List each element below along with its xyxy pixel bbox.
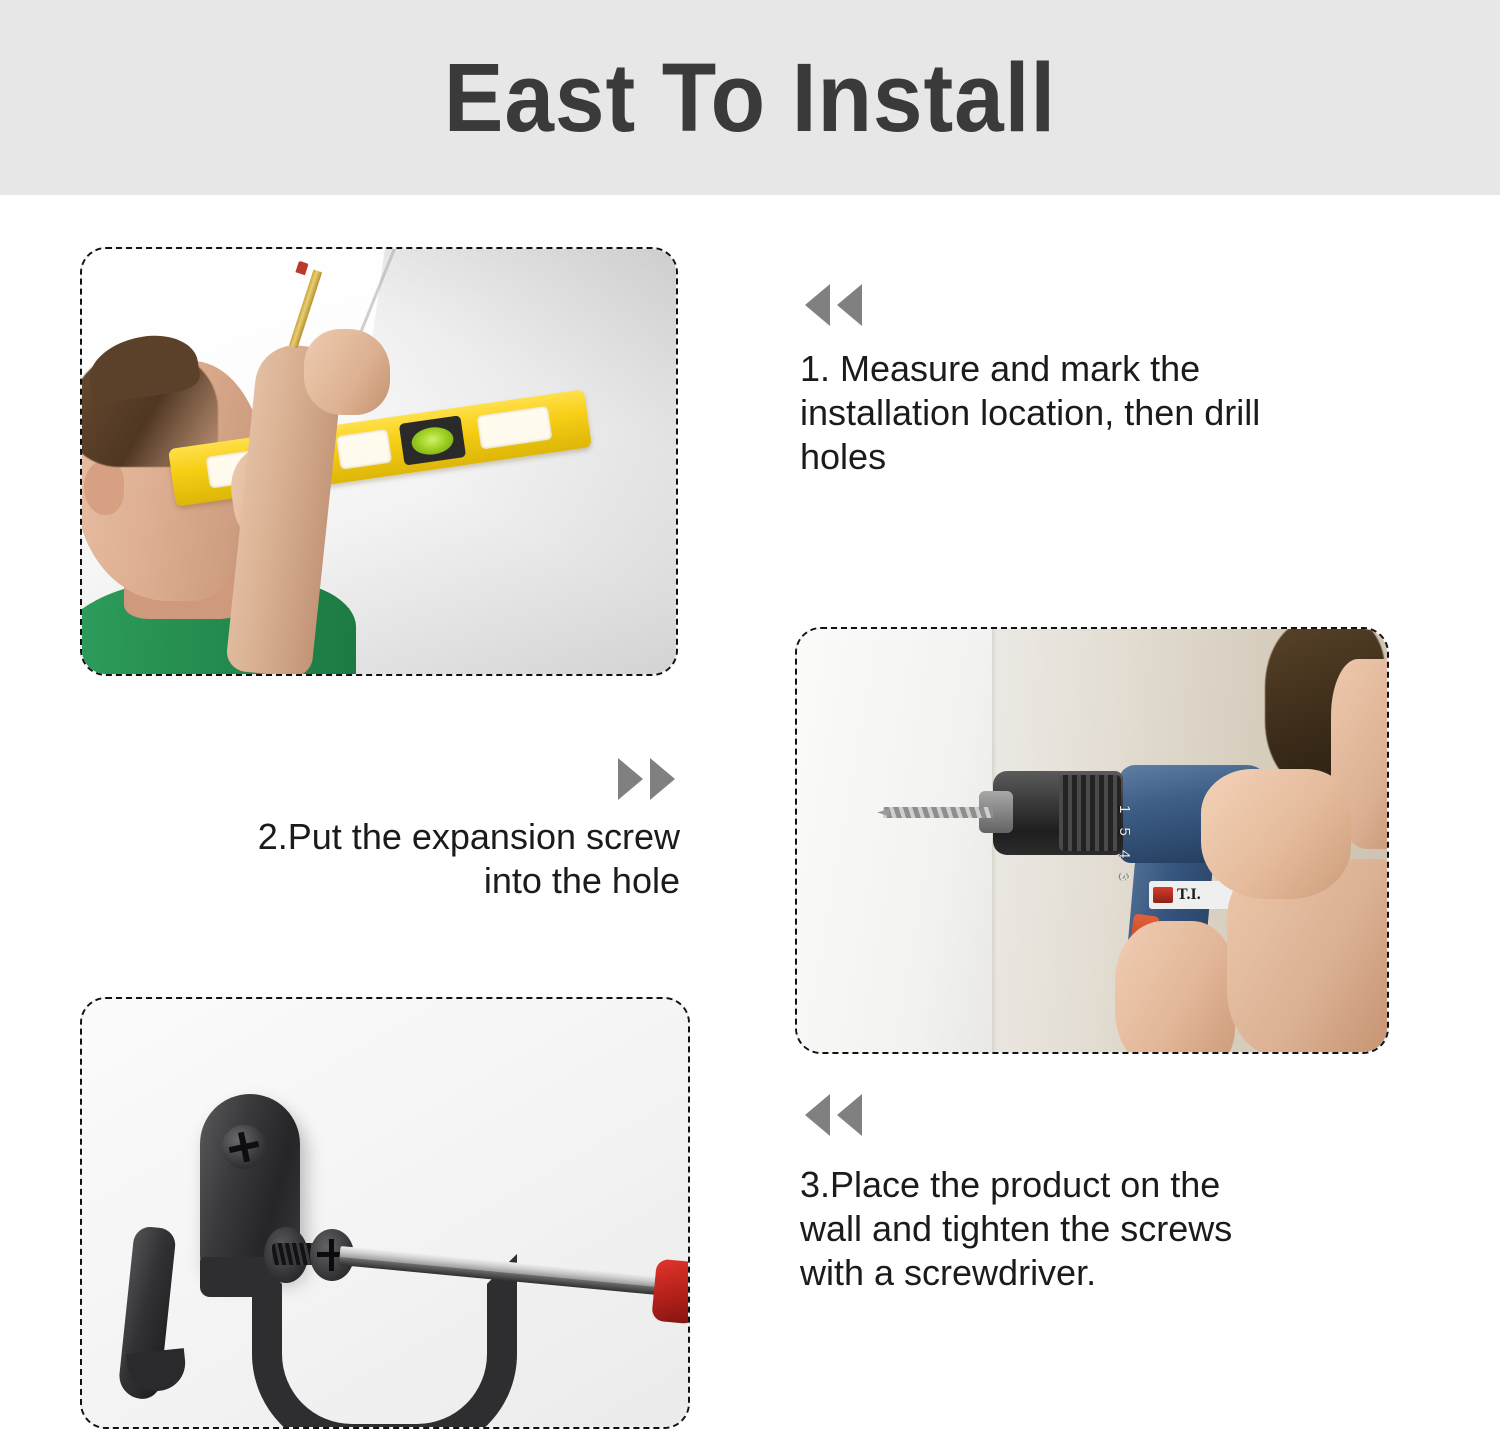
chevron-double-right-icon xyxy=(130,757,680,801)
photo-level-content xyxy=(82,249,676,674)
photo-drill-hole: 1 5 4 3 T.I. xyxy=(795,627,1389,1054)
gripping-hand xyxy=(1115,921,1235,1054)
fist-holding-pencil xyxy=(304,329,390,415)
steadying-hand xyxy=(1201,769,1351,899)
chevron-double-left-icon xyxy=(800,283,1440,327)
photo-mount-hook xyxy=(80,997,690,1429)
drill-chuck-ribs xyxy=(1059,775,1121,851)
step-1-block: 1. Measure and mark the installation loc… xyxy=(800,283,1440,479)
step-2-text: 2.Put the expansion screw into the hole xyxy=(130,815,680,903)
step-3-block: 3.Place the product on the wall and tigh… xyxy=(800,1093,1400,1295)
photo-hook-content xyxy=(82,999,688,1427)
level-bubble-mid xyxy=(410,425,455,458)
step-3-text: 3.Place the product on the wall and tigh… xyxy=(800,1163,1400,1295)
upper-screw xyxy=(222,1125,266,1169)
chevron-double-left-icon xyxy=(800,1093,1400,1137)
ear xyxy=(84,461,124,515)
hook-arm xyxy=(200,1257,272,1297)
drill-torque-dial-numbers: 1 5 4 3 xyxy=(1115,805,1133,886)
wall-surface xyxy=(797,629,992,1052)
step-2-block: 2.Put the expansion screw into the hole xyxy=(130,757,680,903)
screwdriver-handle xyxy=(651,1259,690,1326)
level-vial-housing-mid xyxy=(399,415,466,465)
level-window-right xyxy=(476,406,552,450)
level-window-mid xyxy=(336,429,392,470)
brand-mark-icon xyxy=(1153,887,1173,903)
photo-measure-and-mark xyxy=(80,247,678,676)
step-1-text: 1. Measure and mark the installation loc… xyxy=(800,347,1440,479)
drill-brand-text: T.I. xyxy=(1177,886,1201,904)
photo-drill-content: 1 5 4 3 T.I. xyxy=(797,629,1387,1052)
page-title: East To Install xyxy=(60,0,1440,195)
drill-bit xyxy=(883,807,993,818)
